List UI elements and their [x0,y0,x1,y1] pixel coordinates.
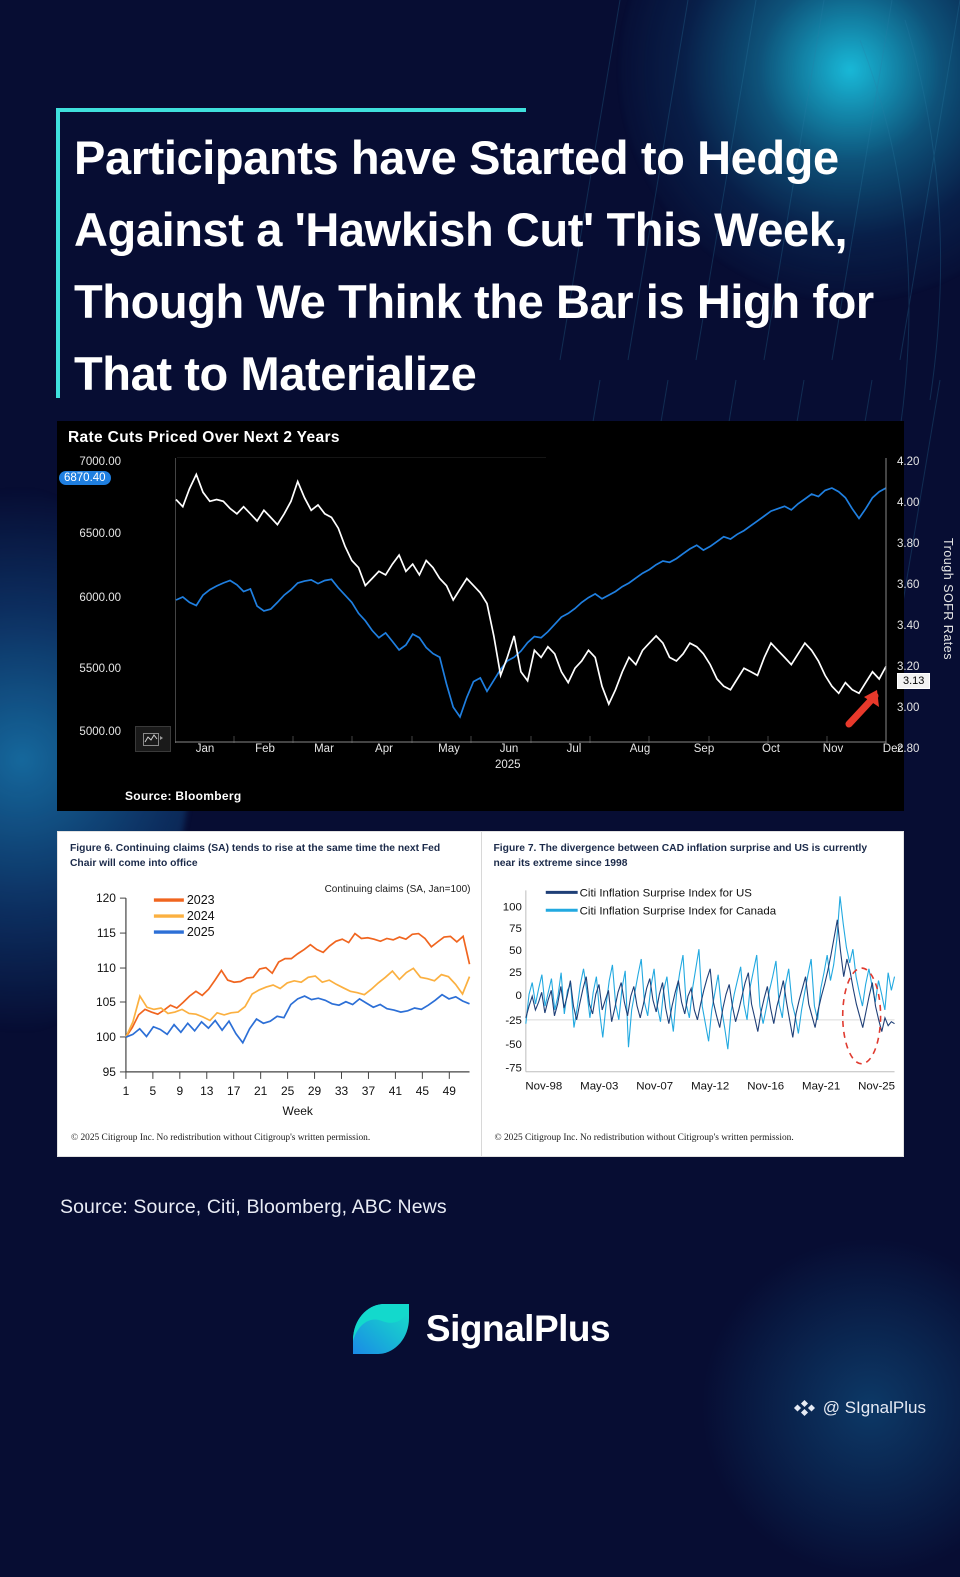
svg-text:Nov-98: Nov-98 [525,1081,562,1093]
bloomberg-chart-title: Rate Cuts Priced Over Next 2 Years [57,421,904,447]
bbg-y2tick-label: 4.00 [897,497,937,509]
page-title: Participants have Started to Hedge Again… [74,108,904,410]
bbg-xaxis-year-label: 2025 [495,759,521,771]
bbg-xtick-label: Feb [242,743,288,755]
bbg-ytick-label: 6500.00 [59,528,121,540]
bloomberg-plot [175,458,887,743]
svg-text:17: 17 [227,1084,241,1098]
bbg-ytick-label: 6000.00 [59,592,121,604]
svg-text:25: 25 [281,1084,295,1098]
svg-text:0: 0 [515,990,521,1002]
svg-text:100: 100 [96,1030,116,1044]
svg-text:1: 1 [123,1084,130,1098]
bbg-ytick-label: 7000.00 [59,456,121,468]
svg-text:115: 115 [97,926,116,940]
svg-text:50: 50 [509,945,522,957]
bbg-xtick-label: Dec [870,743,916,755]
svg-text:-75: -75 [505,1063,522,1075]
mini-chart-glyph [143,733,163,746]
svg-text:Week: Week [283,1104,313,1116]
svg-text:120: 120 [96,891,116,905]
bbg-y2tick-label: 3.80 [897,538,937,550]
chart-toggle-icon[interactable] [135,726,171,752]
bloomberg-chart-panel: Rate Cuts Priced Over Next 2 Years Peak … [57,421,904,811]
bbg-xtick-label: Oct [748,743,794,755]
figure-7-title: Figure 7. The divergence between CAD inf… [494,842,892,871]
svg-text:21: 21 [254,1084,268,1098]
bbg-y2tick-label: 3.40 [897,620,937,632]
svg-text:Nov-07: Nov-07 [636,1081,673,1093]
svg-text:May-03: May-03 [580,1081,618,1093]
svg-text:105: 105 [96,995,116,1009]
svg-text:95: 95 [103,1065,117,1079]
svg-text:41: 41 [389,1084,403,1098]
citi-figures-panel: Figure 6. Continuing claims (SA) tends t… [57,831,904,1157]
svg-text:May-12: May-12 [691,1081,729,1093]
brand-logo-row: SignalPlus [0,1300,960,1358]
bbg-xtick-label: May [426,743,472,755]
figure-7: Figure 7. The divergence between CAD inf… [481,832,904,1156]
bbg-y2tick-label: 3.60 [897,579,937,591]
svg-text:5: 5 [150,1084,157,1098]
social-handle-row: @ SIgnalPlus [793,1398,926,1418]
bbg-xtick-label: Apr [361,743,407,755]
figure-6-legend: 2023 2024 2025 [154,893,215,939]
figure-6-plot: 120 115 110 105 100 95 15913172125293337… [58,876,481,1116]
svg-text:Citi Inflation Surprise Index: Citi Inflation Surprise Index for US [579,887,752,899]
svg-text:May-21: May-21 [802,1081,840,1093]
bbg-xtick-label: Jun [486,743,532,755]
bbg-xtick-label: Sep [681,743,727,755]
svg-text:33: 33 [335,1084,349,1098]
bbg-y2tick-label: 4.20 [897,456,937,468]
bbg-ytick-label: 5000.00 [59,726,121,738]
bbg-left-current-tag: 6870.40 [59,471,111,485]
svg-text:13: 13 [200,1084,214,1098]
brand-name: SignalPlus [426,1308,610,1350]
bloomberg-source-label: Source: Bloomberg [125,789,241,803]
figure-7-copyright: © 2025 Citigroup Inc. No redistribution … [495,1133,794,1143]
figure-6: Figure 6. Continuing claims (SA) tends t… [58,832,481,1156]
svg-text:Nov-25: Nov-25 [858,1081,895,1093]
bbg-right-current-tag: 3.13 [897,673,930,689]
svg-text:-25: -25 [505,1015,522,1027]
headline-block: Participants have Started to Hedge Again… [56,108,896,410]
svg-text:75: 75 [509,923,522,935]
svg-text:45: 45 [416,1084,430,1098]
social-handle: @ SIgnalPlus [823,1398,926,1418]
svg-text:25: 25 [509,967,522,979]
svg-text:100: 100 [502,901,521,913]
diamond-cluster-icon [793,1399,815,1417]
bbg-xtick-label: Aug [617,743,663,755]
source-line: Source: Source, Citi, Bloomberg, ABC New… [60,1196,447,1219]
svg-text:2025: 2025 [187,925,215,939]
svg-text:9: 9 [176,1084,183,1098]
figure-6-copyright: © 2025 Citigroup Inc. No redistribution … [71,1133,370,1143]
svg-text:-50: -50 [505,1039,522,1051]
svg-text:2024: 2024 [187,909,215,923]
figure-7-plot: 100 75 50 25 0 -25 -50 -75 Citi Inflatio… [482,876,904,1116]
figure-6-title: Figure 6. Continuing claims (SA) tends t… [70,842,469,871]
bbg-right-axis-title: Trough SOFR Rates [941,538,955,660]
bbg-xtick-label: Mar [301,743,347,755]
bbg-y2tick-label: 3.20 [897,661,937,673]
bbg-y2tick-label: 3.00 [897,702,937,714]
highlight-ellipse-icon [842,968,880,1064]
svg-text:37: 37 [362,1084,376,1098]
svg-text:Citi Inflation Surprise Index: Citi Inflation Surprise Index for Canada [579,905,776,917]
svg-text:Nov-16: Nov-16 [747,1081,784,1093]
svg-text:110: 110 [97,961,116,975]
bbg-xtick-label: Jul [551,743,597,755]
svg-text:49: 49 [443,1084,457,1098]
bbg-xtick-label: Jan [182,743,228,755]
bbg-ytick-label: 5500.00 [59,663,121,675]
figure-7-legend: Citi Inflation Surprise Index for US Cit… [545,887,776,917]
bbg-xtick-label: Nov [810,743,856,755]
signalplus-wave-logo-icon [350,1300,412,1358]
svg-text:2023: 2023 [187,893,215,907]
svg-text:29: 29 [308,1084,322,1098]
